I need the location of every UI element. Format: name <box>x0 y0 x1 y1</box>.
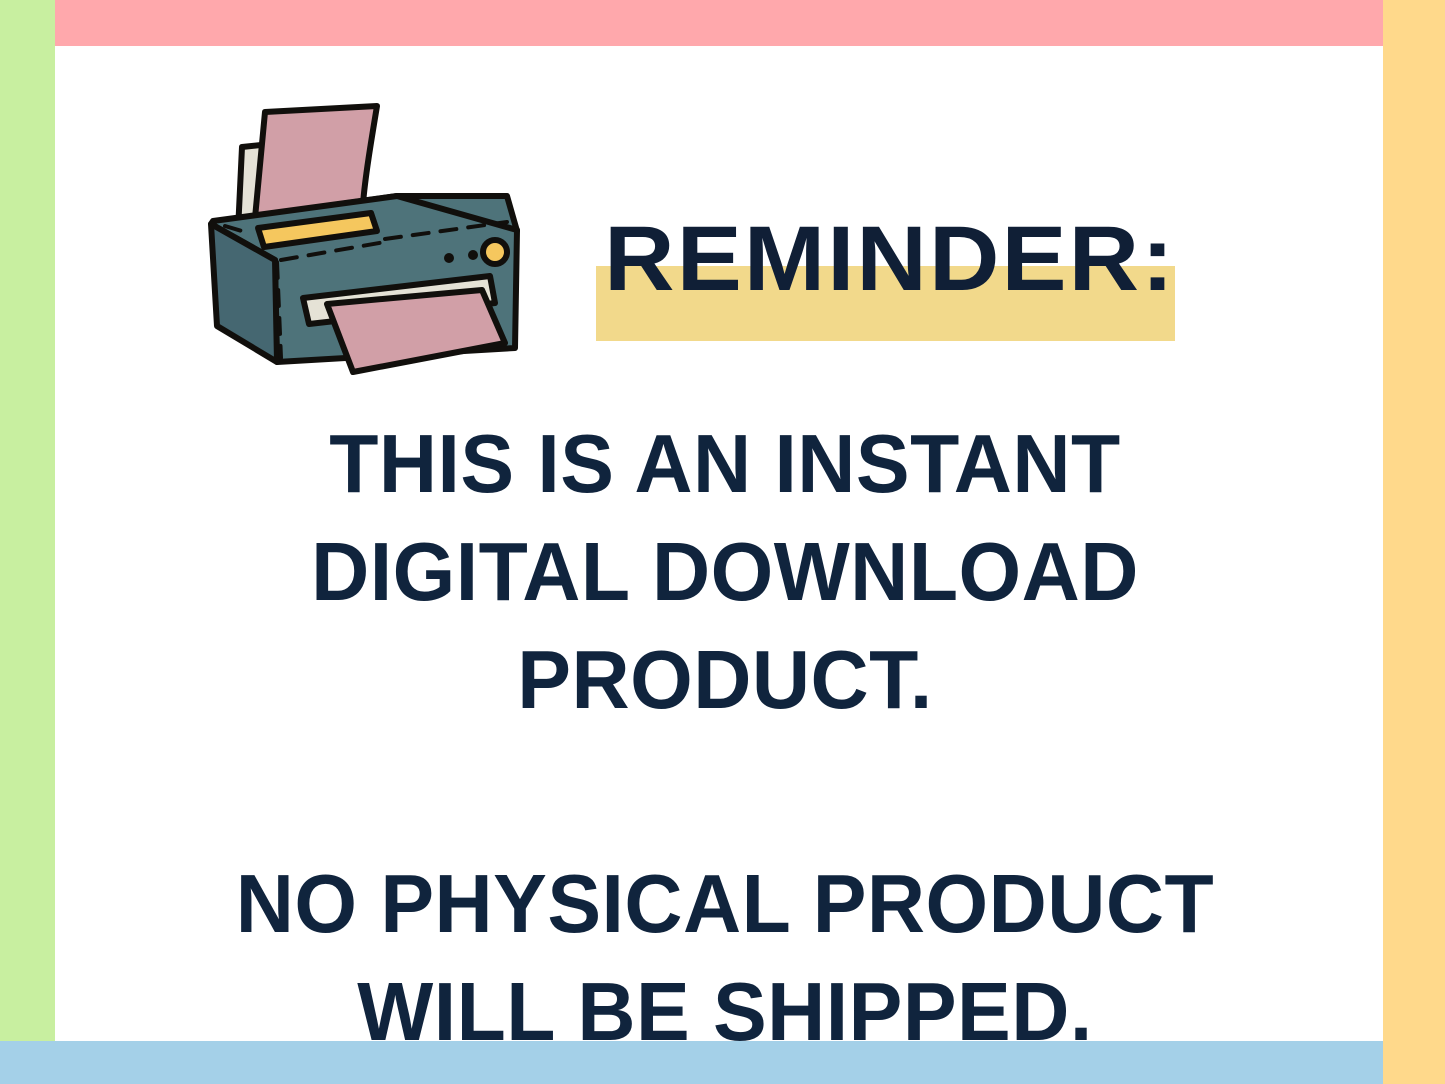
headline-block: REMINDER: <box>580 205 1200 355</box>
left-border-band <box>0 0 55 1041</box>
page-title: REMINDER: <box>561 205 1218 313</box>
output-paper <box>327 290 505 372</box>
reminder-graphic: REMINDER: THIS IS AN INSTANT DIGITAL DOW… <box>0 0 1445 1084</box>
right-border-band <box>1383 0 1445 1084</box>
body-copy-block: THIS IS AN INSTANT DIGITAL DOWNLOAD PROD… <box>180 410 1270 1066</box>
top-border-band <box>55 0 1383 46</box>
body-paragraph-1: THIS IS AN INSTANT DIGITAL DOWNLOAD PROD… <box>196 410 1253 734</box>
printer-icon <box>185 100 545 385</box>
body-paragraph-2: NO PHYSICAL PRODUCT WILL BE SHIPPED. <box>196 850 1253 1066</box>
power-button <box>483 240 507 264</box>
